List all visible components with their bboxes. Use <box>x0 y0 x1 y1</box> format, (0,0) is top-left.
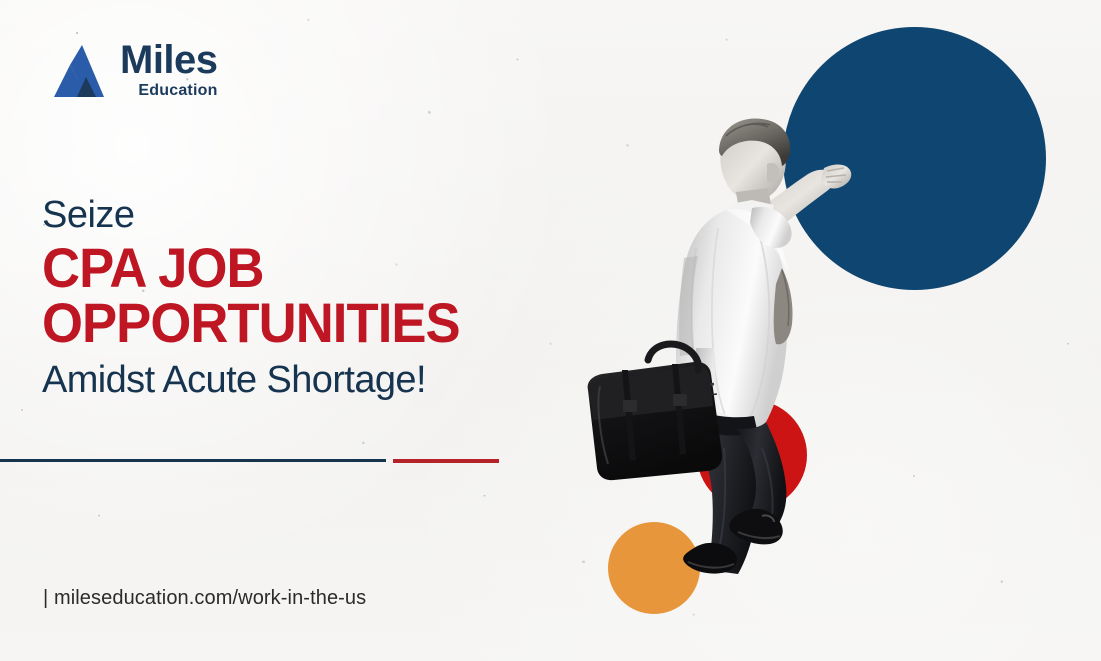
logo-tagline-text: Education <box>138 83 217 99</box>
brand-logo[interactable]: Miles Education <box>52 40 218 99</box>
headline-block: Seize CPA JOB OPPORTUNITIES Amidst Acute… <box>42 196 562 401</box>
businessman-illustration <box>576 108 876 578</box>
headline-kicker: Seize <box>42 196 562 236</box>
headline-subline: Amidst Acute Shortage! <box>42 361 562 401</box>
footer-url[interactable]: | mileseducation.com/work-in-the-us <box>43 587 366 610</box>
miles-mountain-logo-icon <box>52 43 114 99</box>
headline-shout-line-1: CPA JOB <box>42 242 531 295</box>
logo-brand-text: Miles <box>120 40 218 80</box>
divider-navy-segment <box>0 459 386 462</box>
divider <box>0 458 520 464</box>
headline-shout-line-2: OPPORTUNITIES <box>42 297 531 350</box>
promo-banner: Miles Education Seize CPA JOB OPPORTUNIT… <box>0 0 1101 661</box>
divider-red-segment <box>393 459 499 463</box>
logo-wordmark: Miles Education <box>120 40 218 99</box>
